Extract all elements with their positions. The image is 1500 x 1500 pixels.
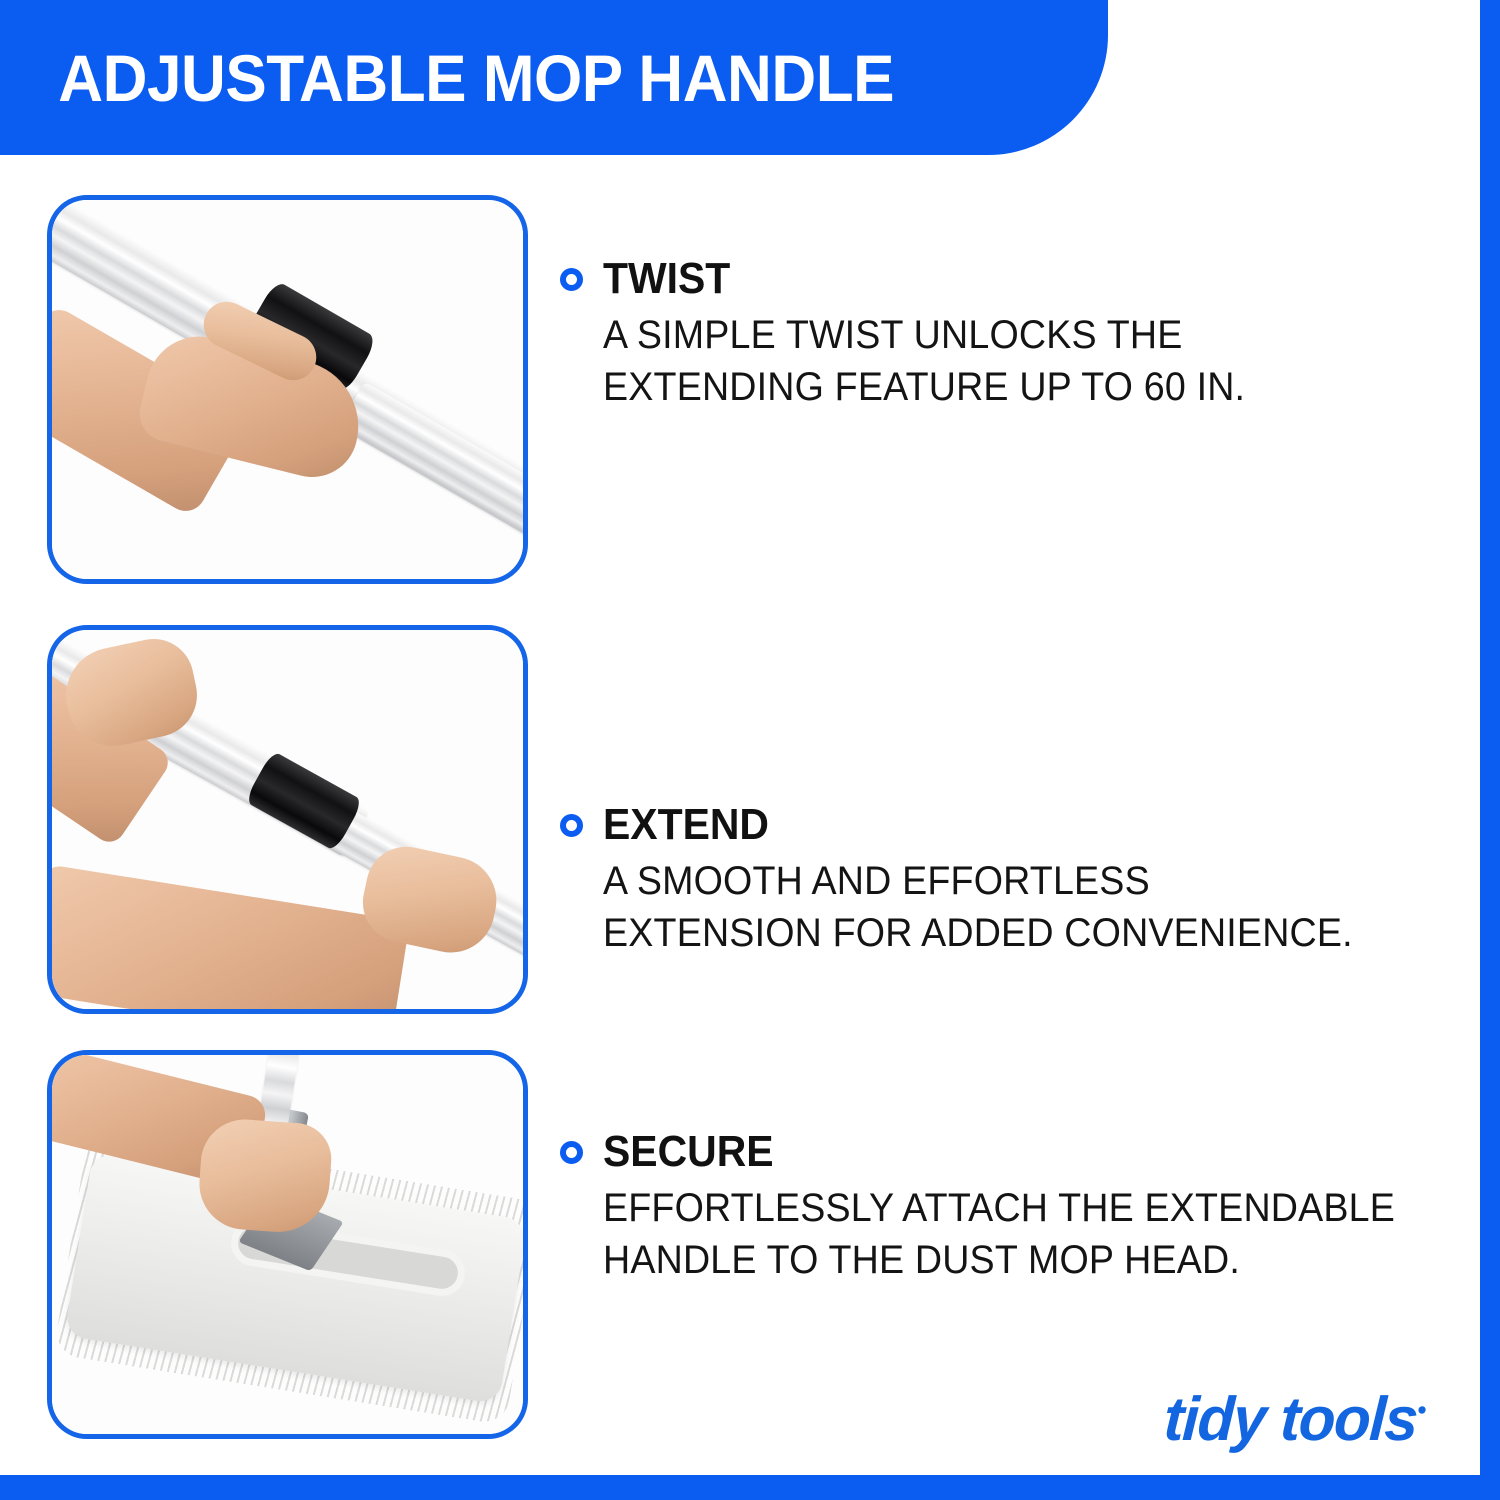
ring-bullet-icon [560, 1141, 583, 1164]
photo-scene-secure [52, 1055, 523, 1434]
step-heading-twist: TWIST [560, 257, 1480, 301]
step-title-twist: TWIST [603, 257, 730, 301]
lower-forearm-icon [47, 864, 410, 1014]
mop-pole-lower-icon [340, 381, 529, 584]
step-photo-twist [47, 195, 528, 584]
step-text-twist: TWIST A SIMPLE TWIST UNLOCKS THE EXTENDI… [560, 195, 1480, 413]
brand-logo: tidy tools• [1163, 1384, 1428, 1455]
step-heading-secure: SECURE [560, 1130, 1480, 1174]
step-description-twist: A SIMPLE TWIST UNLOCKS THE EXTENDING FEA… [603, 309, 1427, 413]
step-text-secure: SECURE EFFORTLESSLY ATTACH THE EXTENDABL… [560, 1050, 1480, 1286]
step-row-twist: TWIST A SIMPLE TWIST UNLOCKS THE EXTENDI… [0, 195, 1480, 585]
step-row-extend: EXTEND A SMOOTH AND EFFORTLESS EXTENSION… [0, 625, 1480, 1015]
step-photo-extend [47, 625, 528, 1014]
bottom-edge-bar [0, 1475, 1500, 1500]
step-row-secure: SECURE EFFORTLESSLY ATTACH THE EXTENDABL… [0, 1050, 1480, 1440]
step-heading-extend: EXTEND [560, 803, 1480, 847]
step-title-extend: EXTEND [603, 803, 769, 847]
brand-logo-text: tidy tools [1163, 1385, 1419, 1454]
step-photo-secure [47, 1050, 528, 1439]
ring-bullet-icon [560, 814, 583, 837]
infographic-page: ADJUSTABLE MOP HANDLE TWIST [0, 0, 1500, 1500]
header-banner: ADJUSTABLE MOP HANDLE [0, 0, 1108, 155]
step-text-extend: EXTEND A SMOOTH AND EFFORTLESS EXTENSION… [560, 625, 1480, 959]
ring-bullet-icon [560, 268, 583, 291]
steps-list: TWIST A SIMPLE TWIST UNLOCKS THE EXTENDI… [0, 155, 1480, 1475]
hand-icon [196, 1117, 333, 1236]
step-title-secure: SECURE [603, 1130, 774, 1174]
photo-scene-extend [52, 630, 523, 1009]
step-description-extend: A SMOOTH AND EFFORTLESS EXTENSION FOR AD… [603, 855, 1427, 959]
photo-scene-twist [52, 200, 523, 579]
page-title: ADJUSTABLE MOP HANDLE [0, 45, 894, 111]
right-edge-stripe [1480, 0, 1500, 1500]
step-description-secure: EFFORTLESSLY ATTACH THE EXTENDABLE HANDL… [603, 1182, 1427, 1286]
